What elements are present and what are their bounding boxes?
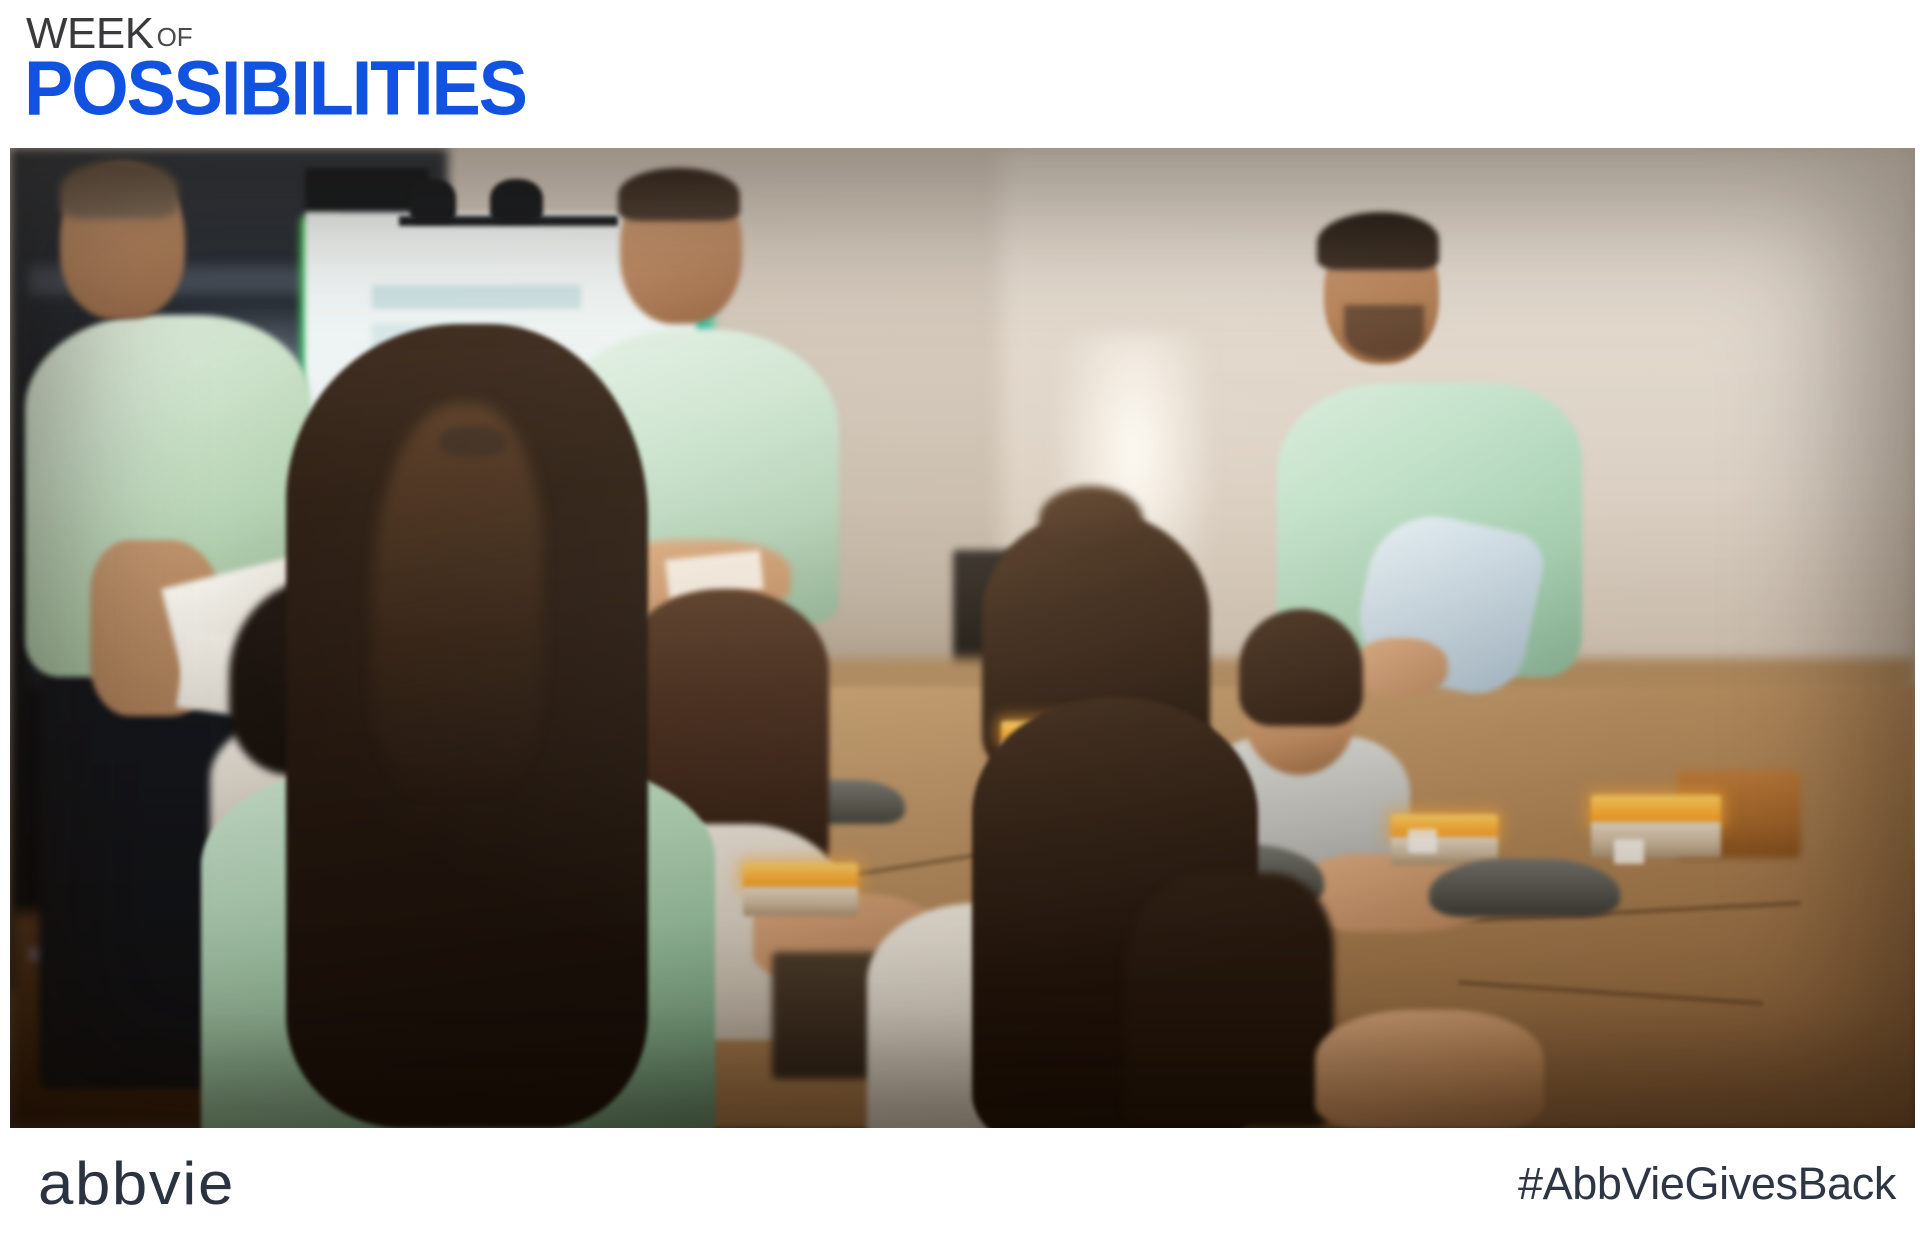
- volunteer-right-hair: [1317, 212, 1439, 271]
- camera-icon: [410, 179, 456, 222]
- screen-text-line: [372, 285, 582, 309]
- light-box-lid: [1591, 795, 1721, 824]
- foreground-hair-edge: [1124, 873, 1334, 1128]
- amber-light-box: [743, 863, 857, 916]
- hair-tie: [439, 427, 508, 456]
- hero-photo: ver: [10, 148, 1915, 1128]
- light-box-body: [743, 887, 857, 917]
- header: WEEKOF POSSIBILITIES: [0, 0, 1920, 148]
- photo-canvas: ver: [10, 148, 1915, 1128]
- volunteer-right-beard: [1344, 305, 1424, 359]
- student-bun-top: [1039, 486, 1144, 555]
- student-boy-hair: [1239, 609, 1363, 727]
- campaign-hashtag: #AbbVieGivesBack: [1518, 1161, 1896, 1206]
- light-box-lid: [743, 863, 857, 887]
- campaign-title-line2: POSSIBILITIES: [24, 50, 526, 127]
- light-box-lid: [1391, 814, 1498, 837]
- footer: abbvie #AbbVieGivesBack: [0, 1128, 1920, 1247]
- volunteer-left-hair: [60, 160, 178, 219]
- amber-light-box: [1391, 814, 1498, 865]
- foreground-hands: [1315, 1010, 1544, 1128]
- student-fg-left-hair-highlight: [372, 403, 543, 795]
- white-tag: [1614, 839, 1644, 864]
- amber-light-box: [1591, 795, 1721, 858]
- volunteer-right-hand: [1353, 638, 1448, 697]
- gray-device: [1429, 859, 1620, 918]
- presenter-hair: [618, 168, 740, 222]
- white-tag: [1408, 829, 1437, 853]
- camera-icon: [490, 179, 543, 222]
- slide: WEEKOF POSSIBILITIES: [0, 0, 1920, 1247]
- light-box-body: [1591, 822, 1721, 857]
- abbvie-logo: abbvie: [38, 1154, 235, 1214]
